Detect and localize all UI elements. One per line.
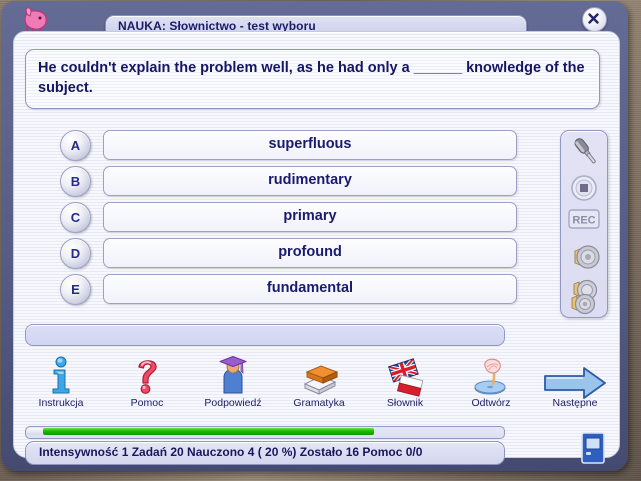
gramophone-icon: [448, 354, 534, 396]
right-arrow-icon: [530, 354, 620, 396]
answer-letter-badge-c[interactable]: C: [60, 202, 91, 233]
progress-cap: [27, 428, 43, 435]
question-text: He couldn't explain the problem well, as…: [38, 58, 587, 98]
answer-input[interactable]: [25, 324, 505, 346]
answer-text-e: fundamental: [104, 275, 516, 302]
close-icon: [587, 12, 600, 25]
answer-letter-c: C: [61, 203, 90, 232]
toolbar-button-slownik[interactable]: Słownik: [362, 354, 448, 409]
microphone-icon: [561, 133, 607, 170]
application-window: NAUKA: Słownictwo - test wyboru He could…: [0, 0, 641, 481]
stop-record-icon: [561, 170, 607, 207]
answer-letter-badge-b[interactable]: B: [60, 166, 91, 197]
bottom-toolbar: Instrukcja Pomoc: [14, 354, 619, 420]
answer-row: D profound: [60, 236, 530, 272]
books-icon: [276, 354, 362, 396]
toolbar-label-podpowiedz: Podpowiedź: [190, 397, 276, 409]
speaker-button[interactable]: [561, 237, 607, 274]
toolbar-button-nastepne[interactable]: Następne: [530, 354, 620, 409]
answer-row: E fundamental: [60, 272, 530, 308]
answer-letter-e: E: [61, 275, 90, 304]
toolbar-label-instrukcja: Instrukcja: [18, 397, 104, 409]
answer-letter-a: A: [61, 131, 90, 160]
answer-letter-badge-e[interactable]: E: [60, 274, 91, 305]
graduate-icon: [190, 354, 276, 396]
toolbar-label-gramatyka: Gramatyka: [276, 397, 362, 409]
microphone-button[interactable]: [561, 133, 607, 170]
toolbar-button-instrukcja[interactable]: Instrukcja: [18, 354, 104, 409]
answer-letter-badge-a[interactable]: A: [60, 130, 91, 161]
progress-fill: [43, 428, 374, 435]
answer-row: C primary: [60, 200, 530, 236]
info-icon: [18, 354, 104, 396]
status-text: Intensywność 1 Zadań 20 Nauczono 4 ( 20 …: [39, 445, 422, 459]
exit-button[interactable]: [575, 430, 611, 466]
answer-option-e[interactable]: fundamental: [103, 274, 517, 304]
status-bar: Intensywność 1 Zadań 20 Nauczono 4 ( 20 …: [25, 441, 505, 465]
stop-record-button[interactable]: [561, 170, 607, 207]
answer-text-a: superfluous: [104, 131, 516, 158]
answer-option-a[interactable]: superfluous: [103, 130, 517, 160]
rec-button[interactable]: REC: [561, 204, 607, 241]
answer-letter-d: D: [61, 239, 90, 268]
question-box: He couldn't explain the problem well, as…: [25, 49, 600, 109]
toolbar-button-gramatyka[interactable]: Gramatyka: [276, 354, 362, 409]
close-button[interactable]: [582, 7, 607, 32]
answer-option-c[interactable]: primary: [103, 202, 517, 232]
progress-bar: [25, 426, 505, 439]
double-speaker-icon: [561, 276, 607, 316]
toolbar-button-pomoc[interactable]: Pomoc: [104, 354, 190, 409]
answer-option-d[interactable]: profound: [103, 238, 517, 268]
toolbar-label-pomoc: Pomoc: [104, 397, 190, 409]
answer-letter-b: B: [61, 167, 90, 196]
answer-option-b[interactable]: rudimentary: [103, 166, 517, 196]
answer-text-d: profound: [104, 239, 516, 266]
window-frame: NAUKA: Słownictwo - test wyboru He could…: [1, 1, 628, 471]
toolbar-button-podpowiedz[interactable]: Podpowiedź: [190, 354, 276, 409]
question-mark-icon: [104, 354, 190, 396]
answer-row: B rudimentary: [60, 164, 530, 200]
svg-text:REC: REC: [572, 215, 595, 227]
flags-icon: [362, 354, 448, 396]
double-speaker-button[interactable]: [561, 276, 607, 316]
speaker-icon: [561, 237, 607, 277]
answers-list: A superfluous B rudimentary: [60, 128, 530, 308]
answer-text-c: primary: [104, 203, 516, 230]
toolbar-label-odtworz: Odtwórz: [448, 397, 534, 409]
answer-row: A superfluous: [60, 128, 530, 164]
answer-text-b: rudimentary: [104, 167, 516, 194]
answer-letter-badge-d[interactable]: D: [60, 238, 91, 269]
toolbar-button-odtworz[interactable]: Odtwórz: [448, 354, 534, 409]
content-page: He couldn't explain the problem well, as…: [13, 31, 620, 458]
toolbar-label-slownik: Słownik: [362, 397, 448, 409]
exit-door-icon: [575, 430, 611, 466]
rec-icon: REC: [561, 204, 607, 234]
audio-toolbar: REC: [560, 130, 608, 318]
